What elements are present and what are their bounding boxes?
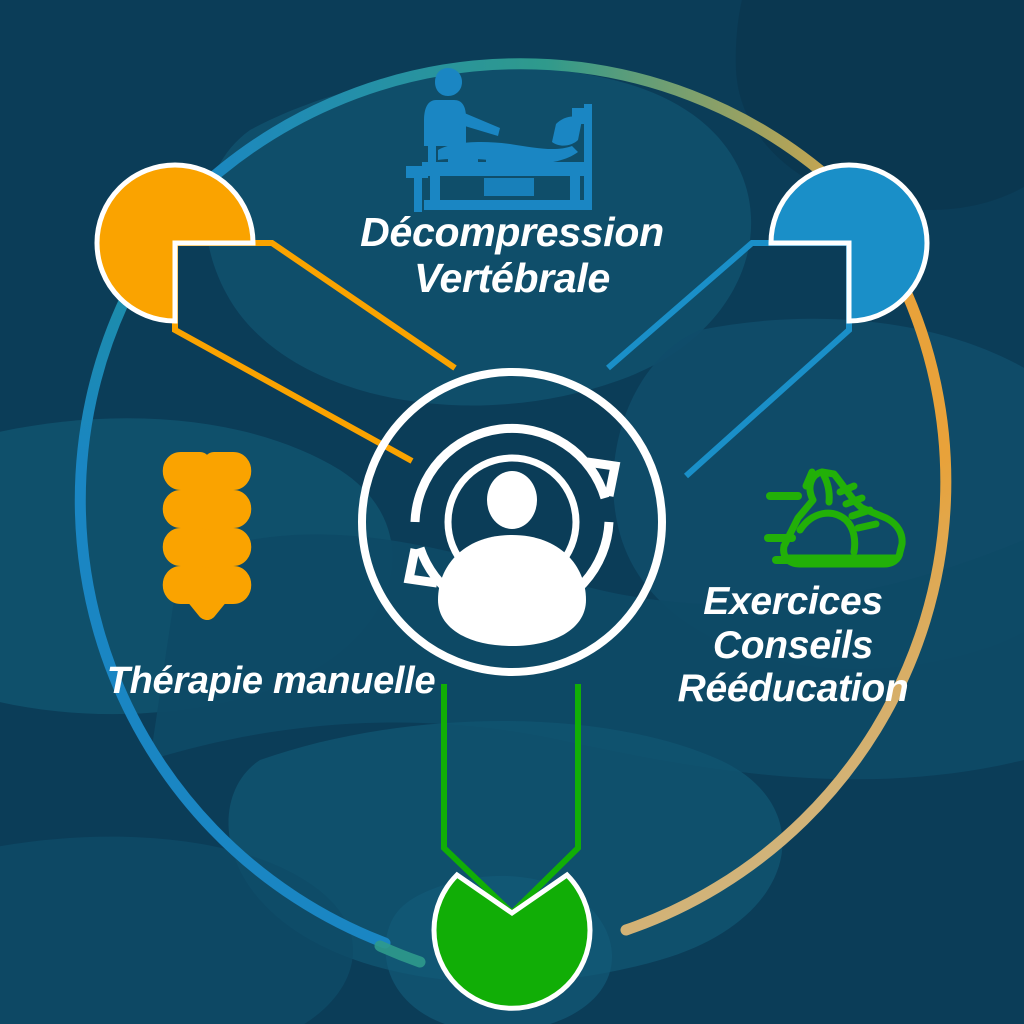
patient-foot bbox=[572, 108, 584, 124]
control-head bbox=[406, 166, 428, 178]
label-exercices-line1: Exercices bbox=[648, 580, 938, 624]
spinal-decompression-table-icon bbox=[0, 0, 1024, 1024]
label-decompression-line2: Vertébrale bbox=[312, 256, 712, 302]
table-harness bbox=[484, 178, 534, 196]
right-post bbox=[584, 104, 592, 210]
infographic-canvas: Décompression Vertébrale Exercices Conse… bbox=[0, 0, 1024, 1024]
label-therapie-line1: Thérapie manuelle bbox=[86, 660, 456, 703]
table-top bbox=[422, 162, 590, 176]
label-exercices-line2: Conseils bbox=[648, 624, 938, 668]
label-therapie-manuelle: Thérapie manuelle bbox=[86, 660, 456, 703]
label-exercices: Exercices Conseils Rééducation bbox=[648, 580, 938, 711]
decompression-table-group bbox=[406, 68, 592, 212]
label-exercices-line3: Rééducation bbox=[648, 667, 938, 711]
therapist-silhouette bbox=[435, 68, 462, 96]
label-decompression-line1: Décompression bbox=[312, 210, 712, 256]
label-decompression-vertebrale: Décompression Vertébrale bbox=[312, 210, 712, 302]
